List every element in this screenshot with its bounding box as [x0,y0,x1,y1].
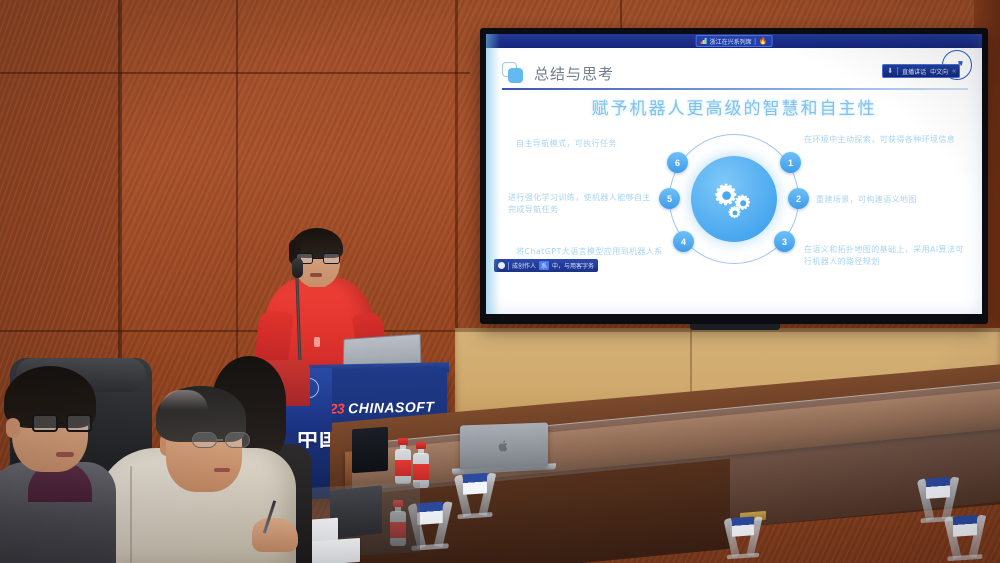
diagram-node-3[interactable]: 3 [774,231,795,252]
diagram-node-1[interactable]: 1 [780,152,801,173]
wall-seam [455,0,458,330]
conference-name-en: CHINASOFT [348,398,434,416]
slide-section-title: 总结与思考 [534,63,614,84]
live-stream-banner[interactable]: 浙江在兴系列席 🔥 [696,35,773,47]
presentation-display[interactable]: 浙江在兴系列席 🔥 ↗ 总结与思考 ⬇ 直播讲话 [480,28,988,324]
nameplate-holder [457,471,494,518]
water-bottle [395,438,411,484]
slide-text-right-2: 重建场景，可构建语义地图 [816,194,982,206]
download-icon: ⬇ [887,67,893,75]
rounded-square-icon [502,62,524,84]
circular-process-diagram: 1 2 3 4 5 6 [665,130,803,268]
slide-heading: 赋予机器人更高级的智慧和自主性 [486,94,982,119]
water-bottle [413,442,429,488]
nameplate-holder [947,513,984,560]
signal-bars-icon [701,38,707,44]
nameplate-holder [726,514,760,557]
status-label: 直播讲话 [902,67,926,76]
status-sublabel: 中文向 [930,67,948,76]
slide-text-left-2: 进行强化学习训练，使机器人能够自主完成导航任务 [508,192,658,217]
conference-room-scene: 浙江在兴系列席 🔥 ↗ 总结与思考 ⬇ 直播讲话 [0,0,1000,563]
table-device[interactable] [352,427,388,474]
glasses-icon [32,414,90,434]
diagram-node-5[interactable]: 5 [659,188,680,209]
footer-highlight: 系 [539,261,549,270]
screen-glare [486,34,500,314]
divider [897,67,898,75]
gears-icon [711,179,757,219]
footer-tail: 中，与用客字务 [552,261,594,270]
shirt-logo [314,337,320,347]
attendee-left-ear [6,418,20,438]
apple-logo-icon [499,439,510,452]
attendee-center-hand [252,518,298,552]
display-screen: 浙江在兴系列席 🔥 ↗ 总结与思考 ⬇ 直播讲话 [486,34,982,314]
footer-label: 成创作人 [512,261,536,270]
wall-seam [620,0,622,30]
podium-title-en: 2023 CHINASOFT [315,398,434,416]
slide-text-right-1: 在环境中主动探索，可获得各种环境信息 [804,134,972,146]
live-banner-label: 浙江在兴系列席 [710,37,752,46]
diagram-node-6[interactable]: 6 [667,152,688,173]
diagram-node-2[interactable]: 2 [788,188,809,209]
slide: 浙江在兴系列席 🔥 ↗ 总结与思考 ⬇ 直播讲话 [486,34,982,314]
attendee-left-mouth [56,452,74,457]
diagram-node-4[interactable]: 4 [673,231,694,252]
status-badge[interactable]: ⬇ 直播讲话 中文向 « [882,64,960,78]
microphone-head [292,258,303,278]
chevron-left-icon: « [952,68,955,75]
divider [508,262,509,270]
divider [755,38,756,45]
slide-footer-badge[interactable]: 成创作人 系 中，与用客字务 [494,259,598,272]
wall-seam [0,72,470,74]
flame-icon: 🔥 [759,37,768,45]
attendee-center-mouth [214,468,230,472]
slide-text-left-1: 自主导航模式，可执行任务 [516,138,666,150]
presenter-mouth [310,273,322,277]
diagram-center [691,156,777,242]
slide-text-right-3: 在语义和拓扑地图的基础上，采用AI算法可行机器人的路径规划 [804,244,972,269]
tv-stand [690,324,780,330]
wall-seam [0,330,460,332]
header-divider [502,88,968,90]
glasses-icon [192,432,248,450]
macbook-laptop[interactable] [460,422,548,469]
